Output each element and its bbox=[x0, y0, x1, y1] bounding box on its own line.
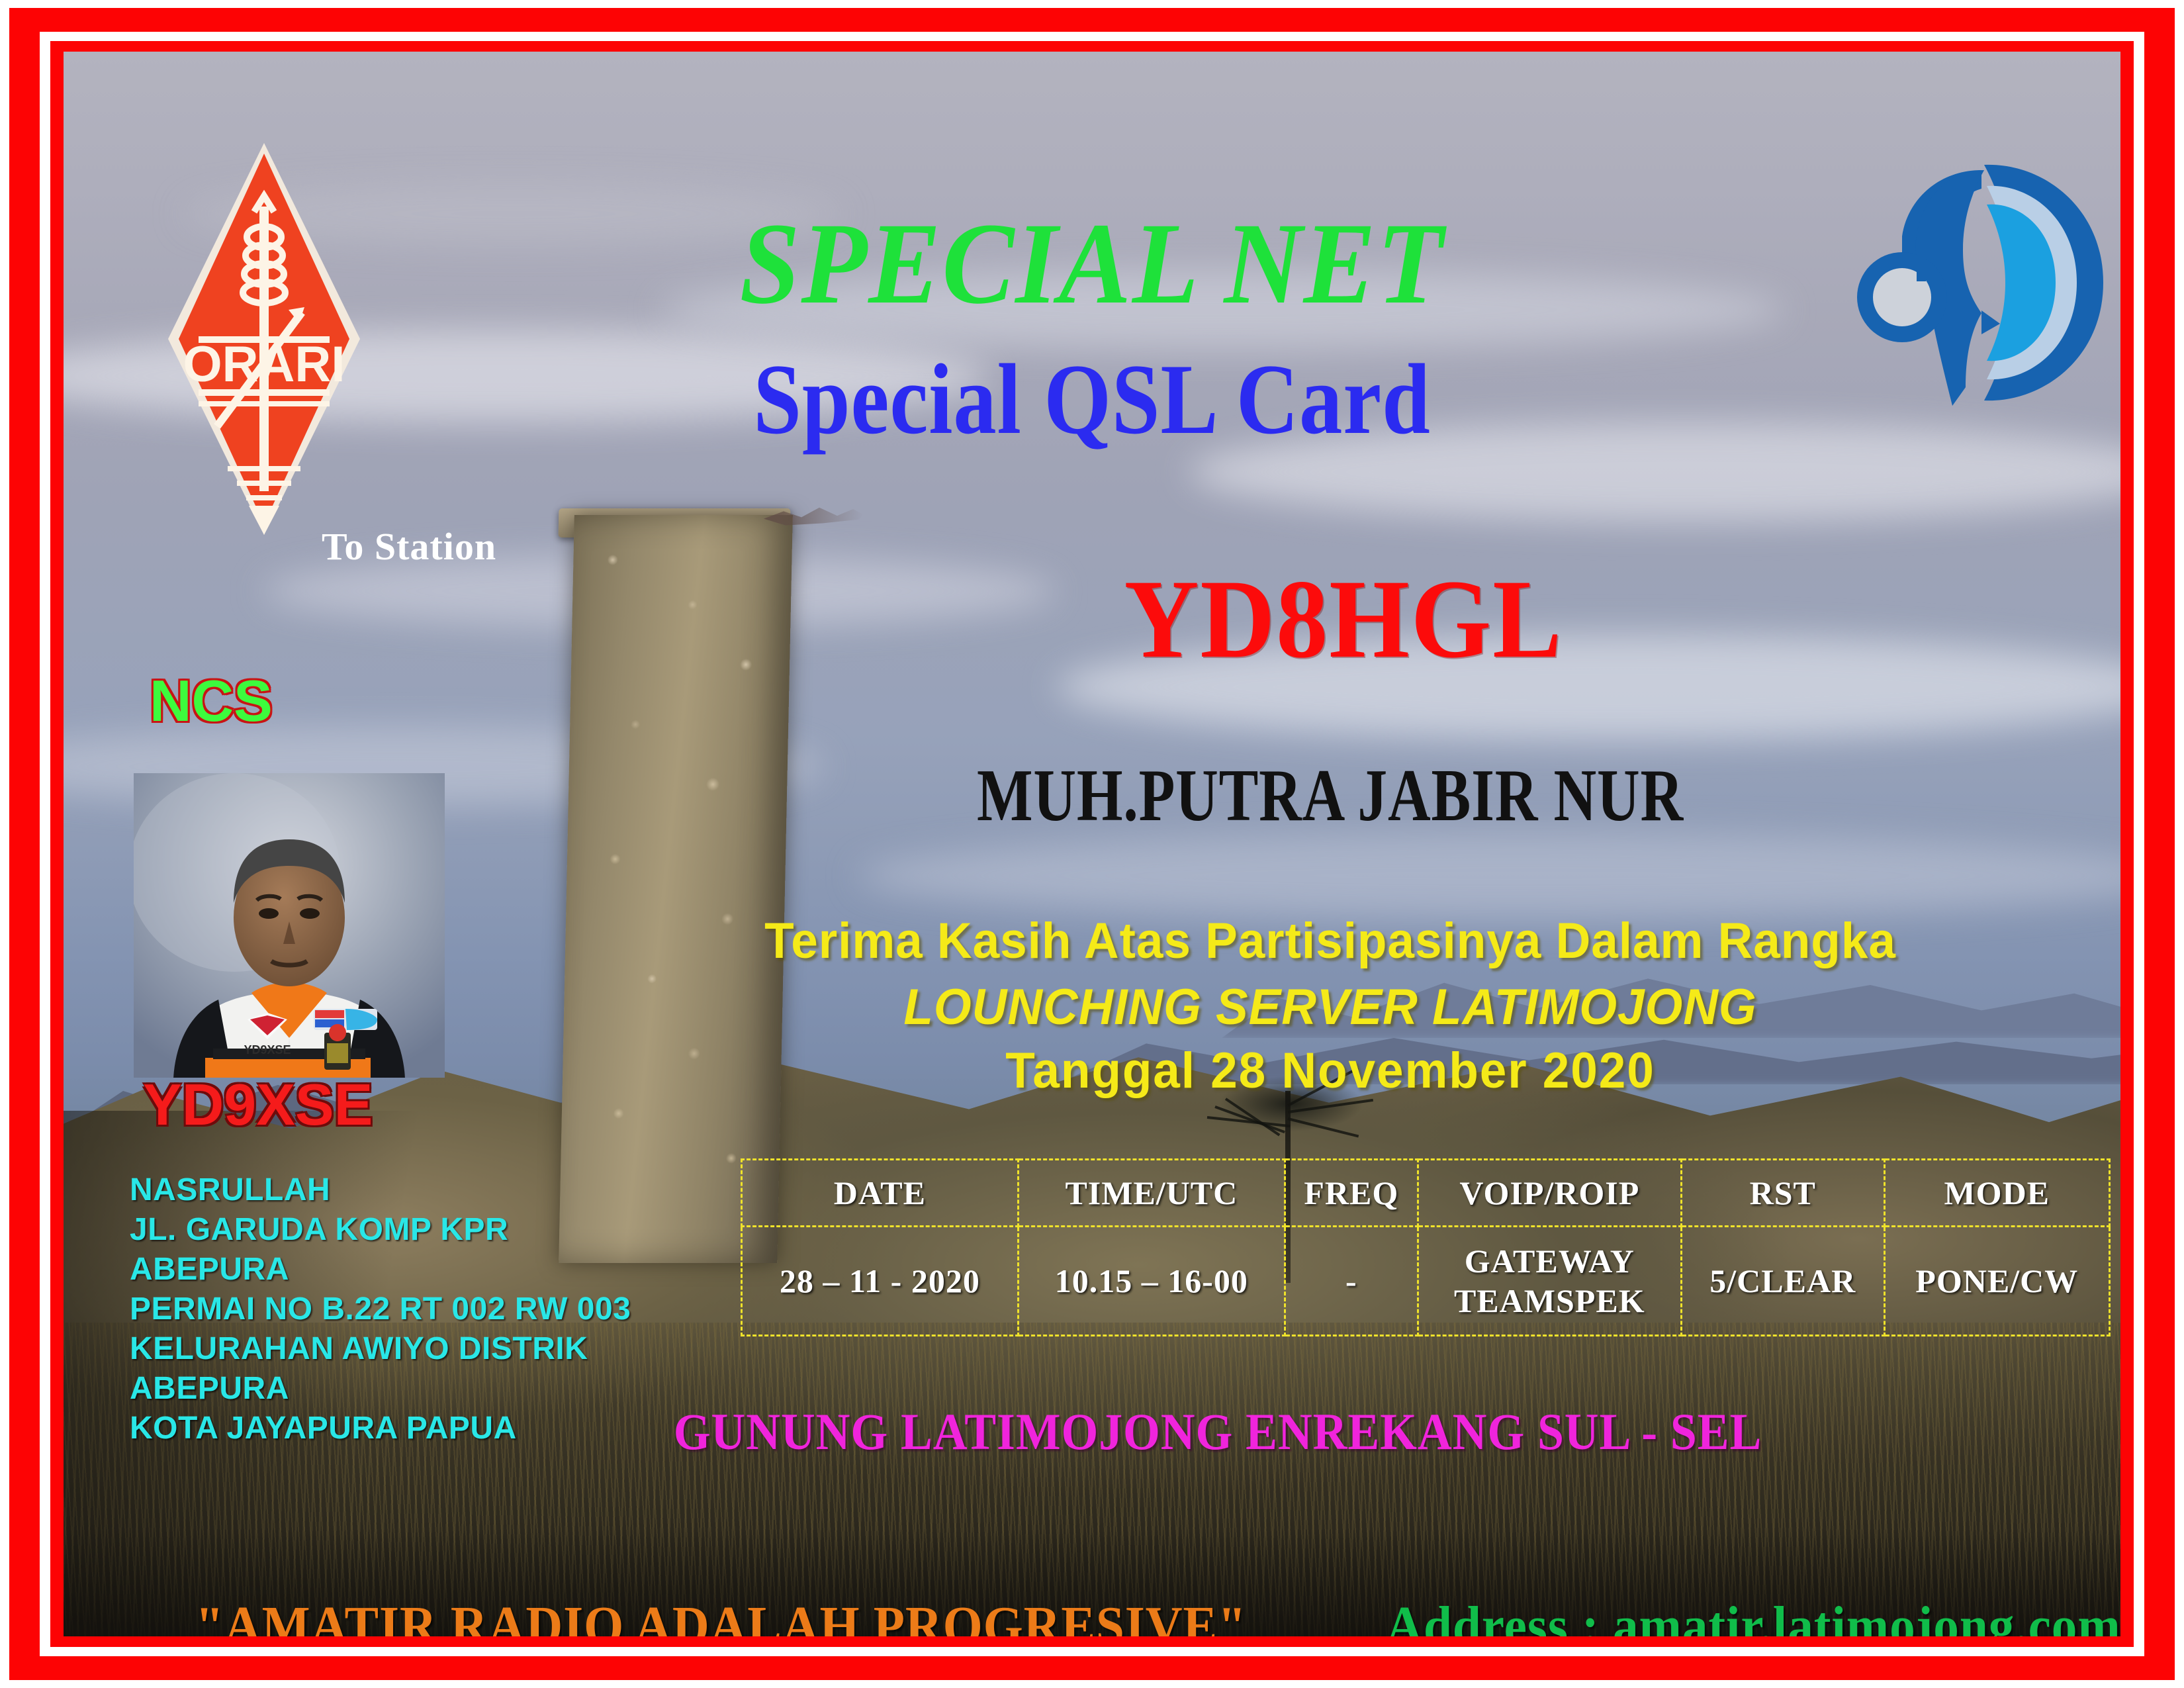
card-subtitle-qsl: Special QSL Card bbox=[208, 342, 1977, 457]
ncs-label: NCS bbox=[150, 667, 273, 735]
address-line: JL. GARUDA KOMP KPR bbox=[130, 1210, 712, 1250]
cell-mode: PONE/CW bbox=[1884, 1227, 2109, 1336]
qso-log-table: DATE TIME/UTC FREQ VOIP/ROIP RST MODE 28… bbox=[741, 1158, 2111, 1336]
column-header-mode: MODE bbox=[1884, 1160, 2109, 1227]
uniform-callsign-badge: YD9XSE bbox=[244, 1043, 291, 1056]
column-header-freq: FREQ bbox=[1285, 1160, 1418, 1227]
column-header-date: DATE bbox=[742, 1160, 1019, 1227]
cloud-band bbox=[858, 833, 2120, 919]
thanks-line-1: Terima Kasih Atas Partisipasinya Dalam R… bbox=[343, 912, 2120, 970]
address-line: KELURAHAN AWIYO DISTRIK bbox=[130, 1329, 712, 1369]
address-line: ABEPURA bbox=[130, 1250, 712, 1289]
table-header-row: DATE TIME/UTC FREQ VOIP/ROIP RST MODE bbox=[742, 1160, 2110, 1227]
cell-rst: 5/CLEAR bbox=[1681, 1227, 1884, 1336]
address-line: NASRULLAH bbox=[130, 1170, 712, 1210]
event-name-line: LOUNCHING SERVER LATIMOJONG bbox=[343, 978, 2120, 1036]
station-callsign: YD8HGL bbox=[397, 555, 2120, 684]
column-header-rst: RST bbox=[1681, 1160, 1884, 1227]
event-date-line: Tanggal 28 November 2020 bbox=[343, 1042, 2120, 1100]
cell-voip-roip-line1: GATEWAY bbox=[1465, 1243, 1635, 1280]
cell-time: 10.15 – 16-00 bbox=[1018, 1227, 1285, 1336]
cell-date: 28 – 11 - 2020 bbox=[742, 1227, 1019, 1336]
background-photo: ORARI bbox=[64, 52, 2120, 1636]
cell-freq: - bbox=[1285, 1227, 1418, 1336]
web-address-text: Address : amatir.latimojong.com bbox=[1386, 1594, 2120, 1636]
column-header-voip-roip: VOIP/ROIP bbox=[1418, 1160, 1681, 1227]
address-line: PERMAI NO B.22 RT 002 RW 003 bbox=[130, 1289, 712, 1329]
cell-voip-roip-line2: TEAMSPEK bbox=[1454, 1282, 1645, 1319]
column-header-time: TIME/UTC bbox=[1018, 1160, 1285, 1227]
qsl-card: ORARI bbox=[0, 0, 2184, 1688]
ncs-callsign: YD9XSE bbox=[143, 1071, 373, 1139]
location-line: GUNUNG LATIMOJONG ENREKANG SUL - SEL bbox=[271, 1402, 2120, 1462]
card-title-special-net: SPECIAL NET bbox=[136, 197, 2048, 331]
motto-text: "AMATIR RADIO ADALAH PROGRESIVE" bbox=[195, 1594, 1247, 1636]
operator-name: MUH.PUTRA JABIR NUR bbox=[508, 753, 2120, 839]
cell-voip-roip: GATEWAY TEAMSPEK bbox=[1418, 1227, 1681, 1336]
table-row: 28 – 11 - 2020 10.15 – 16-00 - GATEWAY T… bbox=[742, 1227, 2110, 1336]
